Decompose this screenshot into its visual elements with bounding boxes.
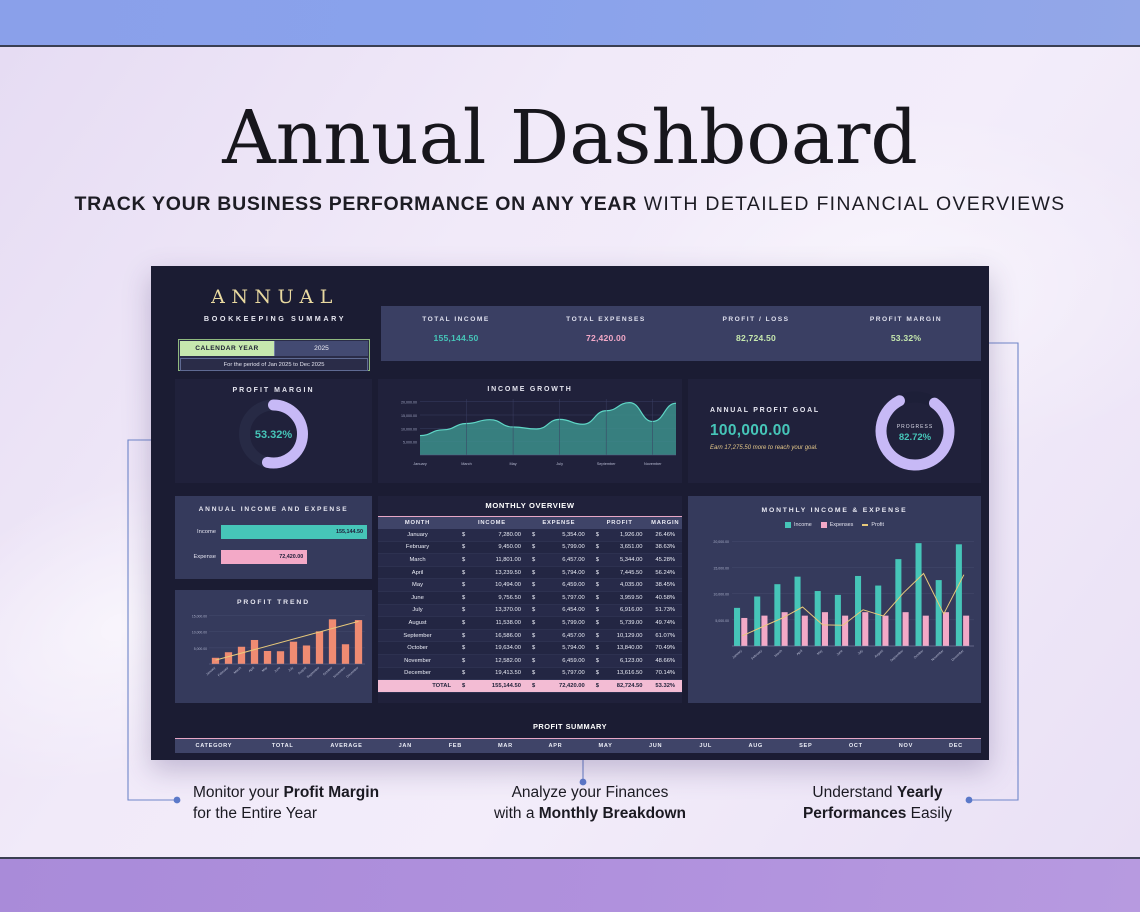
svg-text:20,000.00: 20,000.00 [713, 540, 729, 544]
callout-bold: Yearly [897, 784, 943, 801]
table-row: January $7,280.00 $5,354.00 $1,926.00 26… [378, 529, 682, 542]
kpi-total-expenses: TOTAL EXPENSES 72,420.00 [531, 306, 681, 361]
profit-trend-title: PROFIT TREND [175, 590, 372, 606]
cell-profit: 5,739.00 [603, 617, 649, 630]
profit-summary-column: JAN [380, 739, 430, 753]
cell-income: 11,801.00 [469, 554, 527, 567]
goal-value: 100,000.00 [710, 422, 791, 440]
monthly-overview-table: MONTH INCOME EXPENSE PROFIT MARGIN Janua… [378, 516, 682, 693]
callout-text: Understand [812, 784, 896, 801]
cell-margin: 40.58% [649, 591, 682, 604]
table-row: August $11,538.00 $5,799.00 $5,739.00 49… [378, 617, 682, 630]
expense-bar-label: Expense [185, 554, 221, 560]
calendar-year-input[interactable]: 2025 [274, 341, 368, 356]
brand-block: ANNUAL BOOKKEEPING SUMMARY [175, 286, 375, 323]
cell-month: January [378, 529, 457, 542]
svg-text:November: November [644, 462, 662, 466]
kpi-label: PROFIT / LOSS [681, 316, 831, 323]
svg-text:15,000.00: 15,000.00 [401, 414, 417, 418]
cell-expense: 6,459.00 [539, 654, 591, 667]
table-row: April $13,239.50 $5,794.00 $7,445.50 56.… [378, 566, 682, 579]
svg-text:February: February [750, 649, 763, 661]
kpi-label: PROFIT MARGIN [831, 316, 981, 323]
svg-text:53.32%: 53.32% [255, 429, 293, 441]
income-bar-label: Income [185, 529, 221, 535]
callout-bold: Performances [803, 805, 906, 822]
cell-profit: 10,129.00 [603, 629, 649, 642]
profit-summary-column: FEB [430, 739, 480, 753]
table-row: November $12,582.00 $6,459.00 $6,123.00 … [378, 654, 682, 667]
col-margin: MARGIN [649, 517, 682, 529]
monthly-income-expense-card: MONTHLY INCOME & EXPENSE Income Expenses… [688, 496, 981, 703]
callout-profit-margin: Monitor your Profit Margin for the Entir… [193, 782, 379, 824]
kpi-value: 82,724.50 [681, 333, 831, 343]
svg-text:April: April [248, 666, 256, 673]
svg-text:January: January [413, 462, 427, 466]
cell-income: 7,280.00 [469, 529, 527, 542]
cell-margin: 70.49% [649, 642, 682, 655]
cell-income: 11,538.00 [469, 617, 527, 630]
cell-margin: 56.24% [649, 566, 682, 579]
annual-income-expense-title: ANNUAL INCOME AND EXPENSE [175, 496, 372, 513]
profit-margin-donut: 53.32% [175, 394, 372, 472]
profit-summary-column: NOV [881, 739, 931, 753]
goal-progress-donut: PROGRESS 82.72% [860, 381, 970, 481]
col-profit: PROFIT [591, 517, 649, 529]
svg-text:January: January [205, 666, 216, 677]
svg-text:October: October [322, 665, 334, 676]
cell-profit: 5,344.00 [603, 554, 649, 567]
cell-margin: 49.74% [649, 617, 682, 630]
profit-summary-column: AUG [731, 739, 781, 753]
page-title: Annual Dashboard [0, 96, 1140, 180]
callout-bold: Profit Margin [283, 784, 379, 801]
table-row: March $11,801.00 $6,457.00 $5,344.00 45.… [378, 554, 682, 567]
cell-profit: 4,035.00 [603, 579, 649, 592]
svg-text:March: March [461, 462, 472, 466]
cell-month: March [378, 554, 457, 567]
svg-text:May: May [261, 666, 268, 673]
cell-profit: 1,926.00 [603, 529, 649, 542]
cell-profit: 13,840.00 [603, 642, 649, 655]
cell-profit: 3,651.00 [603, 541, 649, 554]
cell-month: August [378, 617, 457, 630]
cell-month: July [378, 604, 457, 617]
kpi-profit-margin: PROFIT MARGIN 53.32% [831, 306, 981, 361]
cell-income: 19,634.00 [469, 642, 527, 655]
svg-text:10,000.00: 10,000.00 [713, 593, 729, 597]
cell-expense: 5,797.00 [539, 591, 591, 604]
profit-summary-column: DEC [931, 739, 981, 753]
svg-text:July: July [556, 462, 563, 466]
table-row: June $9,756.50 $5,797.00 $3,959.50 40.58… [378, 591, 682, 604]
page-subtitle: TRACK YOUR BUSINESS PERFORMANCE ON ANY Y… [0, 193, 1140, 216]
cell-income: 12,582.00 [469, 654, 527, 667]
cell-margin: 45.28% [649, 554, 682, 567]
callout-text: Monitor your [193, 784, 283, 801]
cell-month: October [378, 642, 457, 655]
svg-text:15,000.00: 15,000.00 [713, 566, 729, 570]
cell-expense: 6,454.00 [539, 604, 591, 617]
callout-text: Easily [906, 805, 952, 822]
col-month: MONTH [378, 517, 457, 529]
brand-subtitle: BOOKKEEPING SUMMARY [175, 314, 375, 323]
svg-text:March: March [233, 666, 242, 675]
kpi-value: 72,420.00 [531, 333, 681, 343]
income-bar-row: Income 155,144.50 [185, 525, 372, 539]
svg-text:March: March [774, 649, 784, 658]
svg-text:September: September [889, 648, 904, 662]
income-growth-title: INCOME GROWTH [378, 379, 682, 393]
cell-month: April [378, 566, 457, 579]
profit-summary-column: APR [530, 739, 580, 753]
cell-month: May [378, 579, 457, 592]
table-row: October $19,634.00 $5,794.00 $13,840.00 … [378, 642, 682, 655]
svg-text:20,000.00: 20,000.00 [401, 401, 417, 405]
cell-margin: 38.45% [649, 579, 682, 592]
cell-expense: 5,799.00 [539, 541, 591, 554]
cell-margin: 70.14% [649, 667, 682, 680]
table-row: May $10,494.00 $6,459.00 $4,035.00 38.45… [378, 579, 682, 592]
svg-text:May: May [509, 462, 516, 466]
svg-text:December: December [951, 648, 966, 662]
cell-margin: 51.73% [649, 604, 682, 617]
callout-monthly-breakdown: Analyze your Finances with a Monthly Bre… [470, 782, 710, 824]
income-bar: 155,144.50 [221, 525, 367, 539]
monthly-overview-title: MONTHLY OVERVIEW [378, 496, 682, 516]
cell-month: November [378, 654, 457, 667]
svg-text:January: January [731, 649, 743, 660]
cell-margin: 26.46% [649, 529, 682, 542]
profit-trend-card: PROFIT TREND 5,000.0010,000.0015,000.00J… [175, 590, 372, 703]
cell-income: 9,756.50 [469, 591, 527, 604]
svg-text:July: July [857, 649, 864, 656]
svg-text:10,000.00: 10,000.00 [401, 427, 417, 431]
svg-text:PROGRESS: PROGRESS [897, 424, 933, 430]
brand-title: ANNUAL [175, 286, 375, 308]
cell-margin: 38.63% [649, 541, 682, 554]
svg-text:December: December [346, 665, 360, 678]
profit-margin-card: PROFIT MARGIN 53.32% [175, 379, 372, 483]
income-growth-card: INCOME GROWTH 5,000.0010,000.0015,000.00… [378, 379, 682, 483]
kpi-value: 155,144.50 [381, 333, 531, 343]
period-description: For the period of Jan 2025 to Dec 2025 [180, 358, 368, 371]
table-row: September $16,586.00 $6,457.00 $10,129.0… [378, 629, 682, 642]
cell-month: February [378, 541, 457, 554]
profit-trend-chart: 5,000.0010,000.0015,000.00JanuaryFebruar… [175, 606, 372, 698]
goal-label: ANNUAL PROFIT GOAL [710, 407, 820, 414]
page-subtitle-bold: TRACK YOUR BUSINESS PERFORMANCE ON ANY Y… [75, 193, 637, 215]
expense-bar: 72,420.00 [221, 550, 307, 564]
calendar-year-selector[interactable]: CALENDAR YEAR 2025 For the period of Jan… [178, 339, 370, 371]
col-expense: EXPENSE [527, 517, 591, 529]
kpi-total-income: TOTAL INCOME 155,144.50 [381, 306, 531, 361]
profit-summary-column: TOTAL [253, 739, 313, 753]
profit-summary-column: CATEGORY [175, 739, 253, 753]
kpi-strip: TOTAL INCOME 155,144.50 TOTAL EXPENSES 7… [381, 306, 981, 361]
cell-expense: 5,797.00 [539, 667, 591, 680]
svg-text:15,000.00: 15,000.00 [192, 615, 207, 619]
profit-summary-column: AVERAGE [313, 739, 381, 753]
annual-profit-goal-card: ANNUAL PROFIT GOAL 100,000.00 Earn 17,27… [688, 379, 981, 483]
svg-text:5,000.00: 5,000.00 [194, 647, 207, 651]
table-total-row: TOTAL $155,144.50 $72,420.00 $82,724.50 … [378, 680, 682, 693]
svg-text:November: November [333, 665, 347, 678]
cell-expense: 5,794.00 [539, 566, 591, 579]
svg-text:February: February [217, 666, 229, 678]
svg-text:October: October [913, 648, 925, 659]
svg-text:August: August [297, 666, 307, 676]
profit-summary-column: SEP [781, 739, 831, 753]
kpi-value: 53.32% [831, 333, 981, 343]
callout-text: with a [494, 805, 539, 822]
cell-month: September [378, 629, 457, 642]
profit-summary-column: JUL [681, 739, 731, 753]
expense-bar-row: Expense 72,420.00 [185, 550, 372, 564]
cell-margin: 48.66% [649, 654, 682, 667]
goal-note: Earn 17,275.50 more to reach your goal. [710, 445, 818, 451]
svg-text:5,000.00: 5,000.00 [715, 619, 729, 623]
cell-profit: 6,916.00 [603, 604, 649, 617]
table-header-row: MONTH INCOME EXPENSE PROFIT MARGIN [378, 517, 682, 529]
cell-margin: 61.07% [649, 629, 682, 642]
cell-income: 10,494.00 [469, 579, 527, 592]
profit-summary-column: JUN [631, 739, 681, 753]
monthly-income-expense-chart: 5,000.0010,000.0015,000.0020,000.00Janua… [688, 528, 981, 690]
cell-month: December [378, 667, 457, 680]
callout-yearly-performance: Understand Yearly Performances Easily [790, 782, 965, 824]
svg-text:September: September [597, 462, 616, 466]
profit-summary-column: OCT [831, 739, 881, 753]
legend-swatch [862, 524, 868, 526]
page-subtitle-light: WITH DETAILED FINANCIAL OVERVIEWS [637, 193, 1065, 215]
table-row: February $9,450.00 $5,799.00 $3,651.00 3… [378, 541, 682, 554]
callout-bold: Monthly Breakdown [539, 805, 686, 822]
svg-text:June: June [836, 649, 844, 657]
profit-margin-card-title: PROFIT MARGIN [175, 379, 372, 394]
cell-income: 9,450.00 [469, 541, 527, 554]
cell-income: 16,586.00 [469, 629, 527, 642]
svg-text:April: April [796, 649, 804, 657]
col-income: INCOME [457, 517, 527, 529]
income-growth-chart: 5,000.0010,000.0015,000.0020,000.00Janua… [378, 393, 682, 475]
svg-text:10,000.00: 10,000.00 [192, 631, 207, 635]
profit-summary-header: CATEGORYTOTALAVERAGEJANFEBMARAPRMAYJUNJU… [175, 738, 981, 753]
table-row: July $13,370.00 $6,454.00 $6,916.00 51.7… [378, 604, 682, 617]
cell-income: 19,413.50 [469, 667, 527, 680]
callout-text: Analyze your Finances [512, 784, 669, 801]
kpi-label: TOTAL EXPENSES [531, 316, 681, 323]
cell-profit: 7,445.50 [603, 566, 649, 579]
top-decorative-band [0, 0, 1140, 47]
cell-expense: 6,457.00 [539, 629, 591, 642]
cell-expense: 5,354.00 [539, 529, 591, 542]
cell-income: 13,370.00 [469, 604, 527, 617]
cell-expense: 6,459.00 [539, 579, 591, 592]
callout-text: for the Entire Year [193, 805, 317, 822]
svg-text:May: May [816, 649, 824, 656]
cell-income: 13,239.50 [469, 566, 527, 579]
cell-month: June [378, 591, 457, 604]
calendar-year-label: CALENDAR YEAR [180, 341, 274, 356]
svg-text:July: July [287, 666, 294, 673]
svg-text:5,000.00: 5,000.00 [403, 441, 417, 445]
kpi-label: TOTAL INCOME [381, 316, 531, 323]
bottom-decorative-band [0, 857, 1140, 912]
cell-profit: 3,959.50 [603, 591, 649, 604]
svg-text:August: August [874, 649, 884, 659]
kpi-profit-loss: PROFIT / LOSS 82,724.50 [681, 306, 831, 361]
cell-expense: 5,794.00 [539, 642, 591, 655]
profit-summary-title: PROFIT SUMMARY [0, 722, 1140, 731]
annual-income-expense-card: ANNUAL INCOME AND EXPENSE Income 155,144… [175, 496, 372, 579]
cell-expense: 6,457.00 [539, 554, 591, 567]
monthly-overview-card: MONTHLY OVERVIEW MONTH INCOME EXPENSE PR… [378, 496, 682, 703]
svg-text:November: November [930, 648, 945, 662]
monthly-income-expense-title: MONTHLY INCOME & EXPENSE [688, 496, 981, 514]
cell-profit: 6,123.00 [603, 654, 649, 667]
svg-text:June: June [273, 666, 281, 674]
table-row: December $19,413.50 $5,797.00 $13,616.50… [378, 667, 682, 680]
cell-profit: 13,616.50 [603, 667, 649, 680]
profit-summary-column: MAY [581, 739, 631, 753]
svg-text:September: September [306, 665, 321, 679]
profit-summary-column: MAR [480, 739, 530, 753]
svg-text:82.72%: 82.72% [899, 432, 932, 443]
cell-expense: 5,799.00 [539, 617, 591, 630]
